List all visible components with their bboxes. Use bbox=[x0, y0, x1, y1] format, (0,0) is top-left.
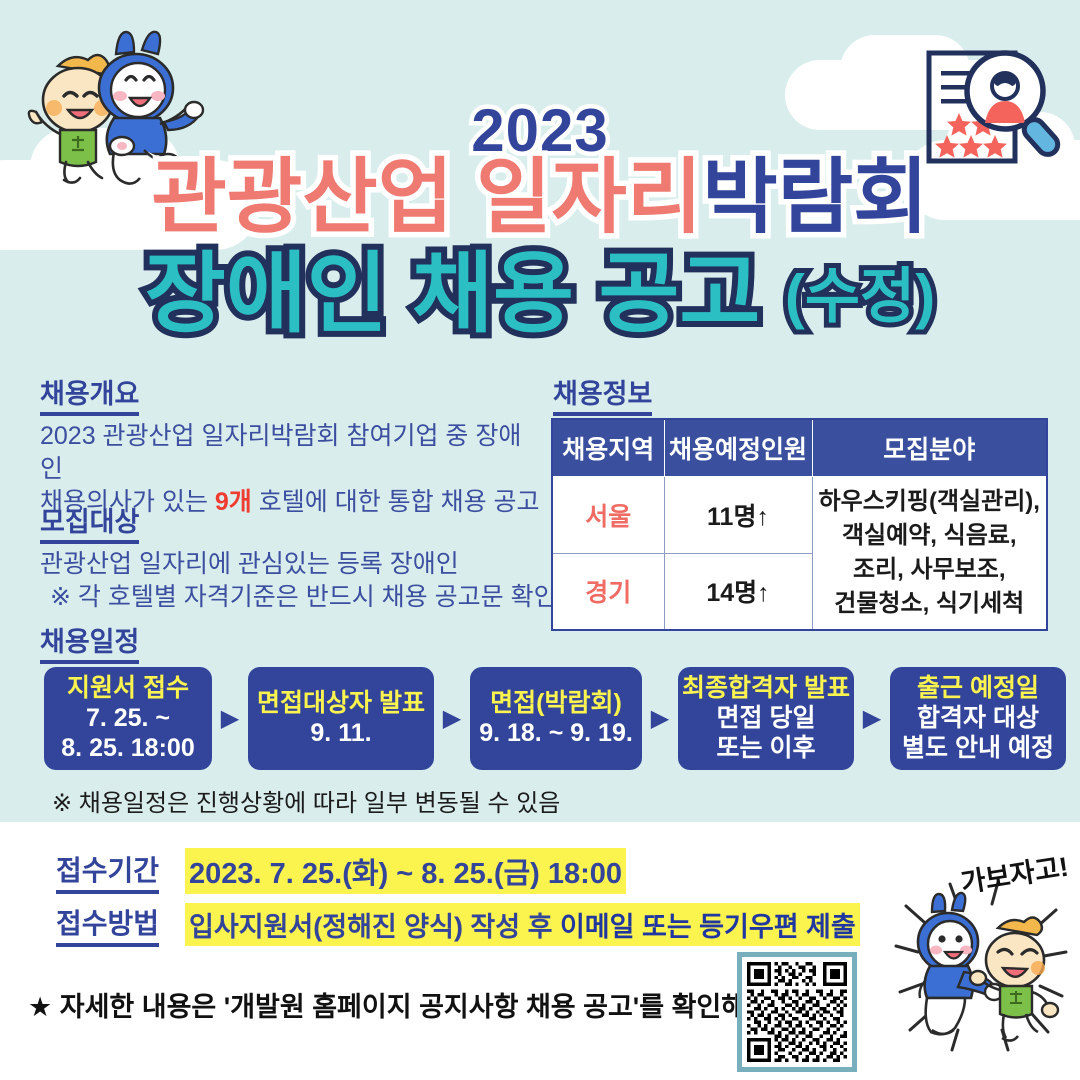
table-col-field: 모집분야 bbox=[812, 419, 1047, 477]
poster-root: 2023 관광산업 일자리박람회 장애인 채용 공고 (수정) 채용개요 202… bbox=[0, 0, 1080, 1080]
target-line-1: 관광산업 일자리에 관심있는 등록 장애인 bbox=[40, 548, 560, 581]
apply-period-row: 접수기간 2023. 7. 25.(화) ~ 8. 25.(금) 18:00 bbox=[56, 848, 626, 894]
table-header-row: 채용지역 채용예정인원 모집분야 bbox=[552, 419, 1047, 477]
apply-method-value-accent: 이메일 또는 등기우편 제출 bbox=[560, 912, 856, 942]
schedule-step-start-date: 출근 예정일 합격자 대상 별도 안내 예정 bbox=[890, 667, 1066, 770]
target-line-2: ※ 각 호텔별 자격기준은 반드시 채용 공고문 확인 bbox=[40, 581, 560, 614]
schedule-step-interview-announce: 면접대상자 발표 9. 11. bbox=[248, 667, 434, 770]
section-heading-target: 모집대상 bbox=[40, 500, 139, 544]
apply-method-value: 입사지원서(정해진 양식) 작성 후 이메일 또는 등기우편 제출 bbox=[185, 903, 860, 946]
timeline-arrow-icon: ▶ bbox=[854, 667, 890, 770]
schedule-step-interview: 면접(박람회) 9. 18. ~ 9. 19. bbox=[470, 667, 642, 770]
step-line: 9. 11. bbox=[310, 718, 371, 748]
footer-note: ★ 자세한 내용은 '개발원 홈페이지 공지사항 채용 공고'를 확인해주세요! bbox=[28, 985, 830, 1024]
title-part-jobs: 일자리 bbox=[476, 152, 702, 243]
poster-title-sub: 장애인 채용 공고 (수정) bbox=[0, 248, 1080, 340]
timeline-arrow-icon: ▶ bbox=[642, 667, 678, 770]
step-line: 별도 안내 예정 bbox=[902, 733, 1054, 763]
star-icon: ★ bbox=[28, 992, 52, 1022]
step-title: 출근 예정일 bbox=[917, 674, 1039, 704]
timeline-arrow-icon: ▶ bbox=[434, 667, 470, 770]
target-body: 관광산업 일자리에 관심있는 등록 장애인 ※ 각 호텔별 자격기준은 반드시 … bbox=[40, 548, 560, 614]
overview-line-1: 2023 관광산업 일자리박람회 참여기업 중 장애인 bbox=[40, 420, 540, 486]
apply-method-label: 접수방법 bbox=[56, 902, 159, 947]
table-row: 서울 11명↑ 하우스키핑(객실관리), 객실예약, 식음료, 조리, 사무보조… bbox=[552, 477, 1047, 554]
field-line-3: 조리, 사무보조, bbox=[817, 553, 1043, 587]
step-title: 지원서 접수 bbox=[67, 674, 189, 704]
field-line-1: 하우스키핑(객실관리), bbox=[817, 485, 1043, 519]
schedule-step-application: 지원서 접수 7. 25. ~ 8. 25. 18:00 bbox=[44, 667, 212, 770]
overview-hotel-count: 9개 bbox=[215, 488, 252, 516]
qr-code-image bbox=[747, 962, 847, 1062]
step-title: 면접대상자 발표 bbox=[257, 689, 425, 719]
table-col-region: 채용지역 bbox=[552, 419, 664, 477]
step-title: 최종합격자 발표 bbox=[682, 674, 850, 704]
table-cell-count-gyeonggi: 14명↑ bbox=[664, 553, 812, 630]
step-title: 면접(박람회) bbox=[490, 689, 622, 719]
apply-period-label: 접수기간 bbox=[56, 849, 159, 894]
title-part-fair: 박람회 bbox=[702, 152, 928, 243]
qr-code-icon[interactable] bbox=[737, 952, 857, 1072]
table-cell-fields: 하우스키핑(객실관리), 객실예약, 식음료, 조리, 사무보조, 건물청소, … bbox=[812, 477, 1047, 631]
table-cell-count-seoul: 11명↑ bbox=[664, 477, 812, 554]
schedule-note: ※ 채용일정은 진행상황에 따라 일부 변동될 수 있음 bbox=[52, 783, 560, 818]
schedule-timeline: 지원서 접수 7. 25. ~ 8. 25. 18:00 ▶ 면접대상자 발표 … bbox=[44, 667, 1066, 770]
poster-title-main: 관광산업 일자리박람회 bbox=[0, 155, 1080, 241]
table-col-headcount: 채용예정인원 bbox=[664, 419, 812, 477]
poster-title-revised-tag: (수정) bbox=[785, 263, 935, 330]
apply-method-value-pre: 입사지원서(정해진 양식) 작성 후 bbox=[189, 912, 560, 942]
table-cell-region-gyeonggi: 경기 bbox=[552, 553, 664, 630]
schedule-step-final-result: 최종합격자 발표 면접 당일 또는 이후 bbox=[678, 667, 854, 770]
recruitment-info-table: 채용지역 채용예정인원 모집분야 서울 11명↑ 하우스키핑(객실관리), 객실… bbox=[551, 418, 1048, 631]
field-line-2: 객실예약, 식음료, bbox=[817, 519, 1043, 553]
section-heading-schedule: 채용일정 bbox=[40, 620, 139, 664]
overview-line-2-post: 호텔에 대한 통합 채용 공고 bbox=[252, 488, 540, 516]
step-line: 9. 18. ~ 9. 19. bbox=[479, 718, 633, 748]
step-line: 7. 25. ~ bbox=[86, 703, 170, 733]
apply-method-row: 접수방법 입사지원서(정해진 양식) 작성 후 이메일 또는 등기우편 제출 bbox=[56, 902, 860, 947]
apply-period-value: 2023. 7. 25.(화) ~ 8. 25.(금) 18:00 bbox=[185, 848, 626, 894]
table-cell-region-seoul: 서울 bbox=[552, 477, 664, 554]
step-line: 합격자 대상 bbox=[917, 703, 1039, 733]
step-line: 또는 이후 bbox=[717, 733, 816, 763]
poster-title-sub-text: 장애인 채용 공고 bbox=[145, 244, 761, 343]
footer-note-text: 자세한 내용은 '개발원 홈페이지 공지사항 채용 공고'를 확인해주세요! bbox=[60, 992, 830, 1022]
timeline-arrow-icon: ▶ bbox=[212, 667, 248, 770]
title-part-tourism: 관광산업 bbox=[151, 152, 476, 243]
section-heading-info: 채용정보 bbox=[553, 372, 652, 416]
section-heading-overview: 채용개요 bbox=[40, 372, 139, 416]
step-line: 8. 25. 18:00 bbox=[61, 733, 194, 763]
step-line: 면접 당일 bbox=[717, 703, 816, 733]
field-line-4: 건물청소, 식기세척 bbox=[817, 587, 1043, 621]
